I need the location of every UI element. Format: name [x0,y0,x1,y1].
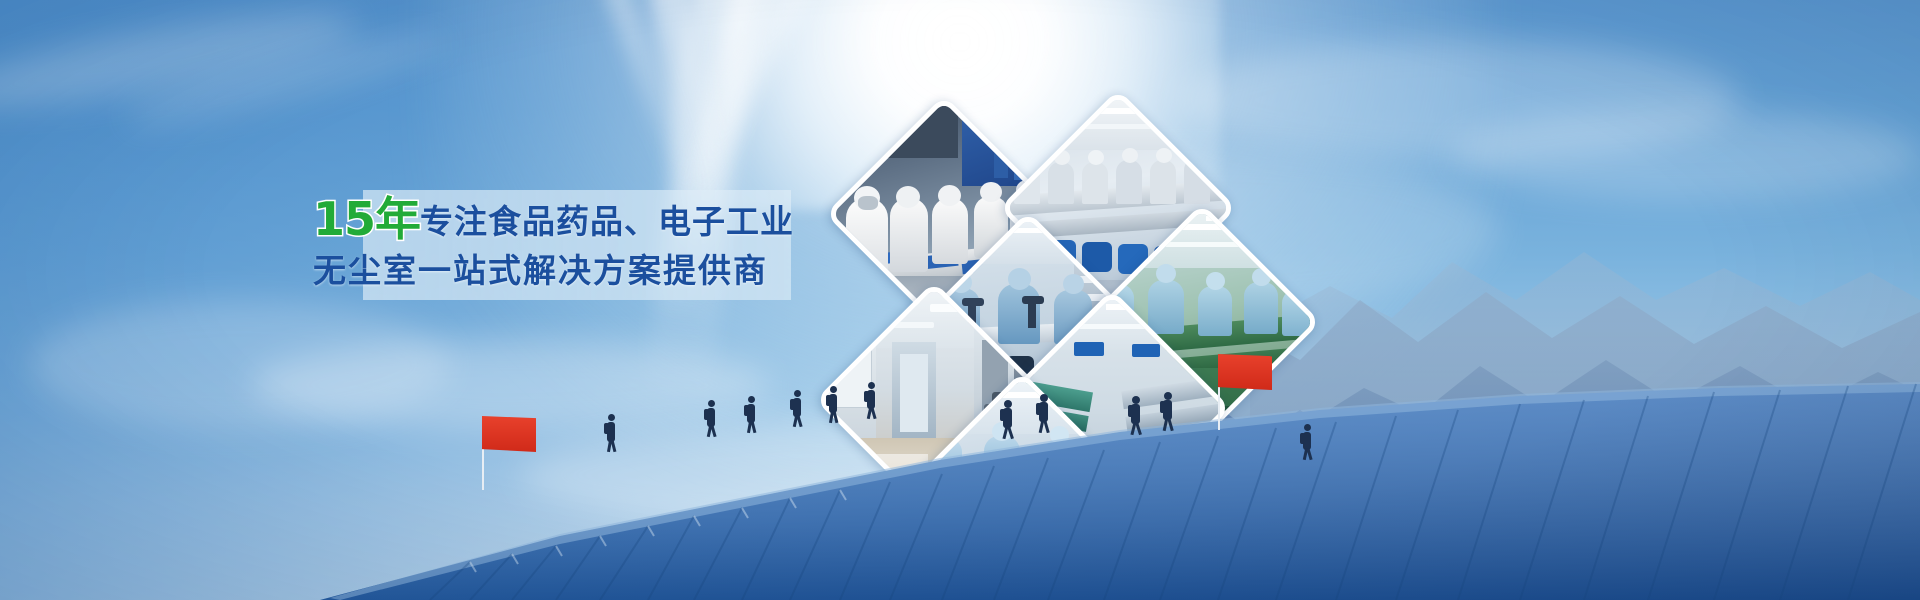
headline: 15年专注食品药品、电子工业 无尘室一站式解决方案提供商 [313,196,853,288]
red-flag-icon [482,416,536,452]
headline-years: 15年 [313,192,420,246]
hero-banner: 15年专注食品药品、电子工业 无尘室一站式解决方案提供商 [0,0,1920,600]
headline-line-1-rest: 专注食品药品、电子工业 [420,202,794,241]
headline-line-1: 15年专注食品药品、电子工业 [313,196,853,248]
red-flag-icon [1218,354,1272,390]
foreground-ridge [0,340,1920,600]
headline-line-2: 无尘室一站式解决方案提供商 [313,254,853,288]
